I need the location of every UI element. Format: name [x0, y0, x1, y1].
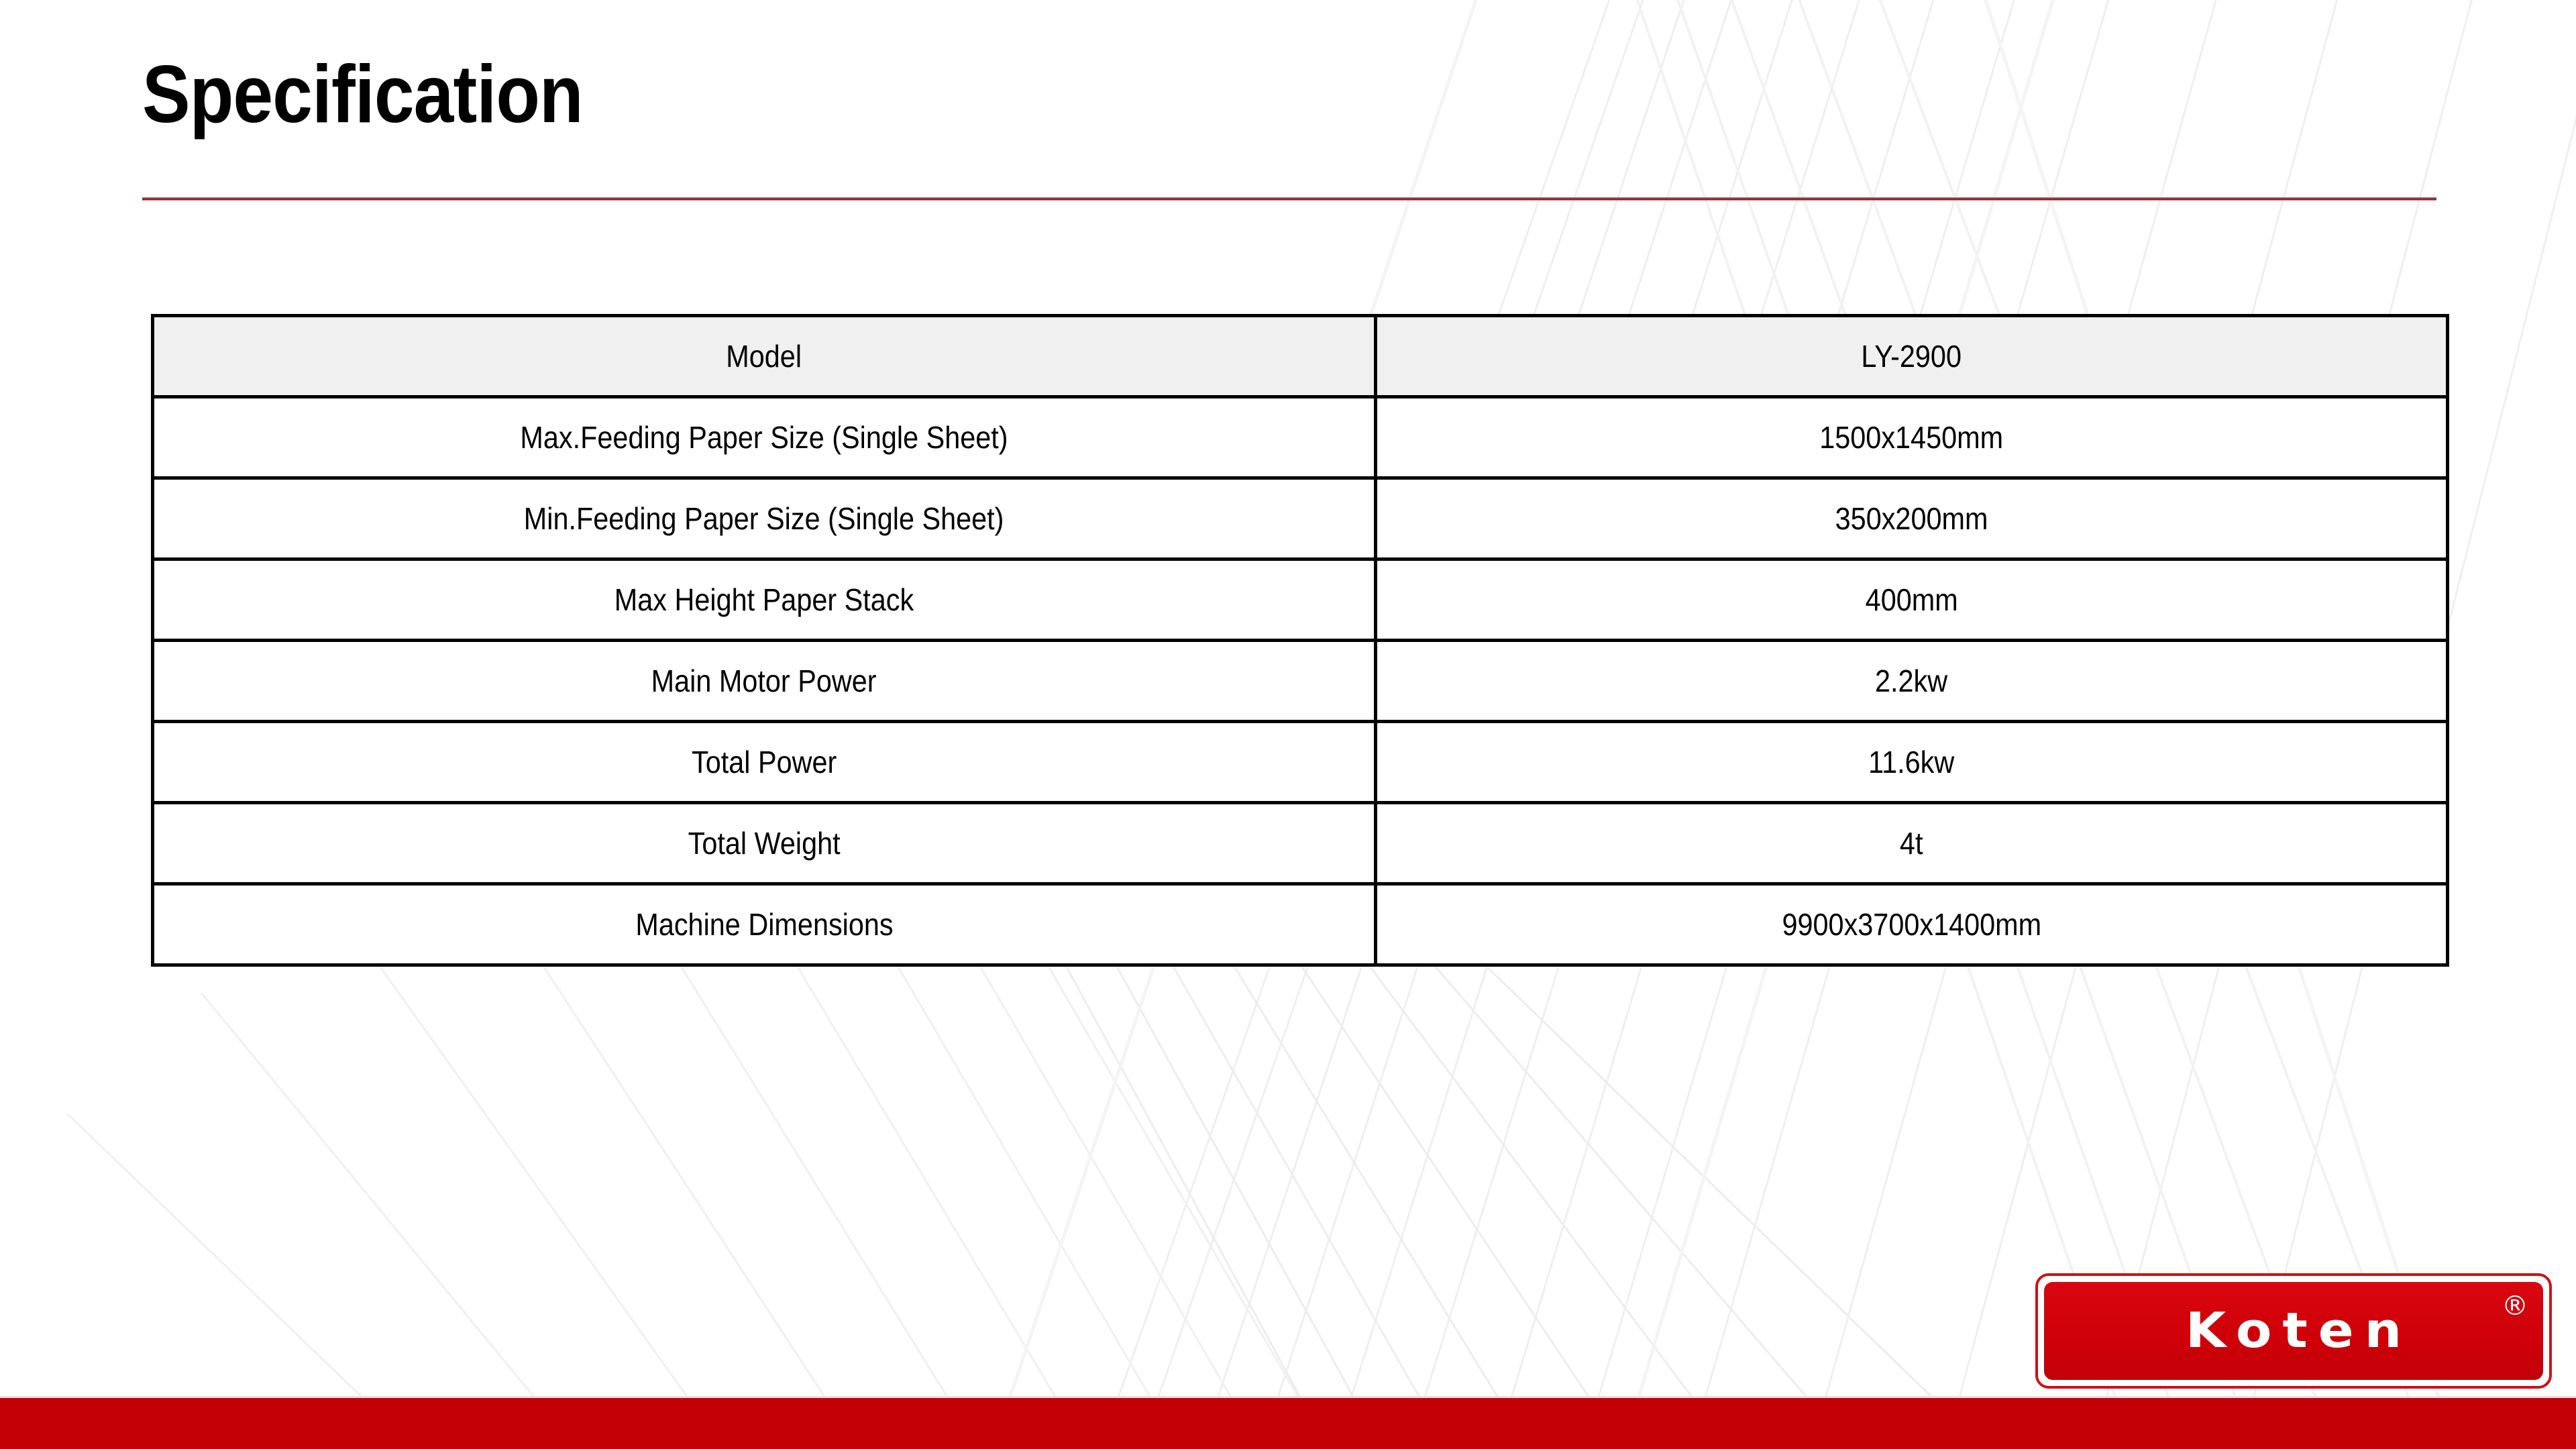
table-cell-label: Min.Feeding Paper Size (Single Sheet) — [153, 478, 1376, 559]
specification-table-body: Model LY-2900 Max.Feeding Paper Size (Si… — [153, 316, 2448, 965]
spec-value-text: 11.6kw — [1868, 744, 1954, 780]
table-cell-value: 11.6kw — [1376, 722, 2448, 803]
table-row: Machine Dimensions 9900x3700x1400mm — [153, 884, 2448, 965]
page-title: Specification — [142, 52, 2167, 136]
spec-label-text: Total Power — [692, 744, 837, 780]
table-cell-label: Max Height Paper Stack — [153, 559, 1376, 641]
table-cell-label: Main Motor Power — [153, 641, 1376, 722]
table-row: Min.Feeding Paper Size (Single Sheet) 35… — [153, 478, 2448, 559]
table-cell-label: Total Weight — [153, 803, 1376, 884]
table-cell-value: 350x200mm — [1376, 478, 2448, 559]
table-cell-value: 2.2kw — [1376, 641, 2448, 722]
spec-value-text: 9900x3700x1400mm — [1782, 906, 2041, 943]
koten-logo-plate: Koten ® — [2044, 1282, 2543, 1380]
spec-value-text: 4t — [1900, 825, 1923, 861]
slide-canvas: Specification Model LY-2900 Max.Feeding … — [0, 0, 2576, 1449]
table-row: Total Weight 4t — [153, 803, 2448, 884]
spec-label-text: Total Weight — [688, 825, 840, 861]
spec-label-text: Main Motor Power — [651, 663, 877, 699]
spec-value-text: 1500x1450mm — [1820, 419, 2004, 455]
table-cell-label: Machine Dimensions — [153, 884, 1376, 965]
table-row: Main Motor Power 2.2kw — [153, 641, 2448, 722]
spec-value-text: LY-2900 — [1862, 338, 1962, 374]
table-row: Max Height Paper Stack 400mm — [153, 559, 2448, 641]
spec-label-text: Min.Feeding Paper Size (Single Sheet) — [524, 500, 1004, 537]
table-cell-value: LY-2900 — [1376, 316, 2448, 397]
spec-label-text: Model — [727, 338, 802, 374]
table-cell-value: 4t — [1376, 803, 2448, 884]
spec-value-text: 2.2kw — [1875, 663, 1947, 699]
spec-value-text: 400mm — [1865, 582, 1957, 618]
table-row: Max.Feeding Paper Size (Single Sheet) 15… — [153, 397, 2448, 478]
table-row: Total Power 11.6kw — [153, 722, 2448, 803]
koten-wordmark: Koten — [2175, 1307, 2412, 1356]
table-cell-value: 400mm — [1376, 559, 2448, 641]
table-row-header: Model LY-2900 — [153, 316, 2448, 397]
koten-logo: Koten ® — [2035, 1273, 2552, 1389]
title-block: Specification — [142, 52, 2443, 136]
table-cell-label: Model — [153, 316, 1376, 397]
table-cell-value: 9900x3700x1400mm — [1376, 884, 2448, 965]
spec-label-text: Max Height Paper Stack — [614, 582, 914, 618]
registered-trademark-icon: ® — [2502, 1293, 2528, 1320]
title-underline-rule — [142, 197, 2436, 201]
spec-label-text: Machine Dimensions — [635, 906, 893, 943]
spec-value-text: 350x200mm — [1835, 500, 1988, 537]
table-cell-label: Total Power — [153, 722, 1376, 803]
table-cell-value: 1500x1450mm — [1376, 397, 2448, 478]
bottom-accent-bar — [0, 1398, 2576, 1449]
specification-table: Model LY-2900 Max.Feeding Paper Size (Si… — [151, 314, 2449, 967]
table-cell-label: Max.Feeding Paper Size (Single Sheet) — [153, 397, 1376, 478]
spec-label-text: Max.Feeding Paper Size (Single Sheet) — [520, 419, 1008, 455]
